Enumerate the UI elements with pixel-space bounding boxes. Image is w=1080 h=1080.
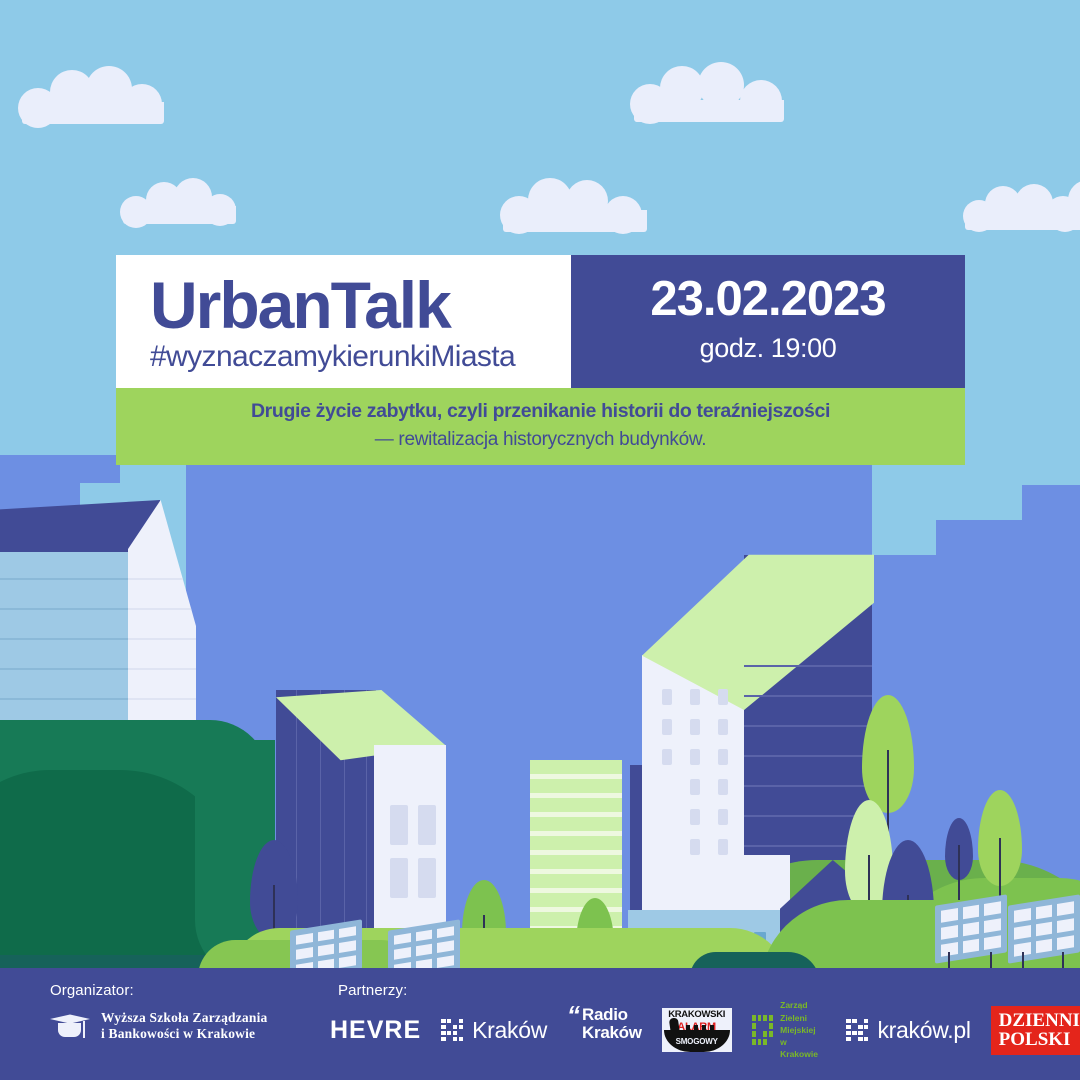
date-card: 23.02.2023 godz. 19:00 bbox=[571, 255, 965, 388]
window bbox=[418, 805, 436, 845]
zzm-line1: Zarząd bbox=[780, 999, 826, 1011]
partner-logo-dziennik-polski[interactable]: DZIENNIK POLSKI bbox=[991, 1006, 1080, 1054]
tree-trunk bbox=[958, 845, 960, 903]
skyline-back-block bbox=[1036, 455, 1080, 485]
partner-logo-radio-krakow[interactable]: “ Radio Kraków bbox=[567, 1006, 642, 1054]
smog-alarm-logo: KRAKOWSKI ALARM SMOGOWY bbox=[662, 1008, 732, 1052]
organizer-name-line1: Wyższa Szkoła Zarządzania bbox=[101, 1010, 268, 1026]
graduation-cap-icon bbox=[50, 1011, 90, 1041]
partner-logo-krakow[interactable]: Kraków bbox=[441, 1006, 547, 1054]
zzm-wordmark: Zarząd Zieleni Miejskiej w Krakowie bbox=[780, 999, 826, 1061]
zzm-pixel-icon bbox=[752, 1015, 773, 1045]
subtitle-line-1: Drugie życie zabytku, czyli przenikanie … bbox=[128, 399, 953, 424]
cloud-icon bbox=[963, 182, 1080, 224]
partner-logo-hevre[interactable]: HEVRE bbox=[330, 1006, 421, 1054]
solar-panel bbox=[1008, 894, 1080, 963]
partner-logo-zarzad-zieleni[interactable]: Zarząd Zieleni Miejskiej w Krakowie bbox=[752, 1006, 827, 1054]
organizer-logo[interactable]: Wyższa Szkoła Zarządzania i Bankowości w… bbox=[50, 1010, 268, 1043]
organizer-label: Organizator: bbox=[50, 982, 134, 999]
partner-logo-krakow-pl[interactable]: kraków.pl bbox=[846, 1006, 970, 1054]
cloud-icon bbox=[120, 178, 238, 218]
zzm-line2: Zieleni Miejskiej bbox=[780, 1012, 826, 1037]
footer-bar: Organizator: Partnerzy: Wyższa Szkoła Za… bbox=[0, 968, 1080, 1080]
header-card: UrbanTalk #wyznaczamykierunkiMiasta 23.0… bbox=[116, 255, 965, 465]
radio-krakow-line1: Radio bbox=[582, 1006, 642, 1024]
subtitle-bar: Drugie życie zabytku, czyli przenikanie … bbox=[116, 388, 965, 465]
skyline-mid-block bbox=[1022, 485, 1080, 545]
partner-logo-krakowski-alarm-smogowy[interactable]: KRAKOWSKI ALARM SMOGOWY bbox=[662, 1006, 732, 1054]
partners-label: Partnerzy: bbox=[338, 982, 407, 999]
dziennik-polski-wordmark: DZIENNIK POLSKI bbox=[991, 1006, 1080, 1055]
cloud-icon bbox=[500, 176, 650, 222]
window bbox=[418, 858, 436, 898]
cloud-icon bbox=[630, 62, 786, 112]
partner-logos: HEVRE Kraków “ Radio Kraków bbox=[330, 1006, 1080, 1054]
krakow-pl-wordmark: kraków.pl bbox=[877, 1017, 970, 1044]
radio-krakow-wordmark: Radio Kraków bbox=[582, 1006, 642, 1043]
window bbox=[390, 805, 408, 845]
solar-panel bbox=[935, 894, 1007, 963]
smog-line3: SMOGOWY bbox=[674, 1037, 720, 1046]
krakow-wordmark: Kraków bbox=[472, 1017, 547, 1044]
page-title: UrbanTalk bbox=[150, 273, 571, 338]
title-card: UrbanTalk #wyznaczamykierunkiMiasta bbox=[116, 255, 571, 388]
window bbox=[390, 858, 408, 898]
poster-canvas: UrbanTalk #wyznaczamykierunkiMiasta 23.0… bbox=[0, 0, 1080, 1080]
radio-krakow-line2: Kraków bbox=[582, 1024, 642, 1042]
event-time: godz. 19:00 bbox=[700, 333, 837, 364]
event-date: 23.02.2023 bbox=[650, 275, 885, 324]
krakow-pixel-icon bbox=[441, 1019, 463, 1041]
header-top-row: UrbanTalk #wyznaczamykierunkiMiasta 23.0… bbox=[116, 255, 965, 388]
cloud-icon bbox=[18, 66, 166, 114]
subtitle-line-2: — rewitalizacja historycznych budynków. bbox=[128, 427, 953, 453]
quote-icon: “ bbox=[565, 1006, 582, 1024]
organizer-name: Wyższa Szkoła Zarządzania i Bankowości w… bbox=[101, 1010, 268, 1043]
krakow-pl-pixel-icon bbox=[846, 1019, 868, 1041]
hevre-wordmark: HEVRE bbox=[330, 1016, 421, 1045]
zzm-line3: w Krakowie bbox=[780, 1036, 826, 1061]
hashtag-label: #wyznaczamykierunkiMiasta bbox=[150, 340, 571, 375]
organizer-name-line2: i Bankowości w Krakowie bbox=[101, 1026, 268, 1042]
